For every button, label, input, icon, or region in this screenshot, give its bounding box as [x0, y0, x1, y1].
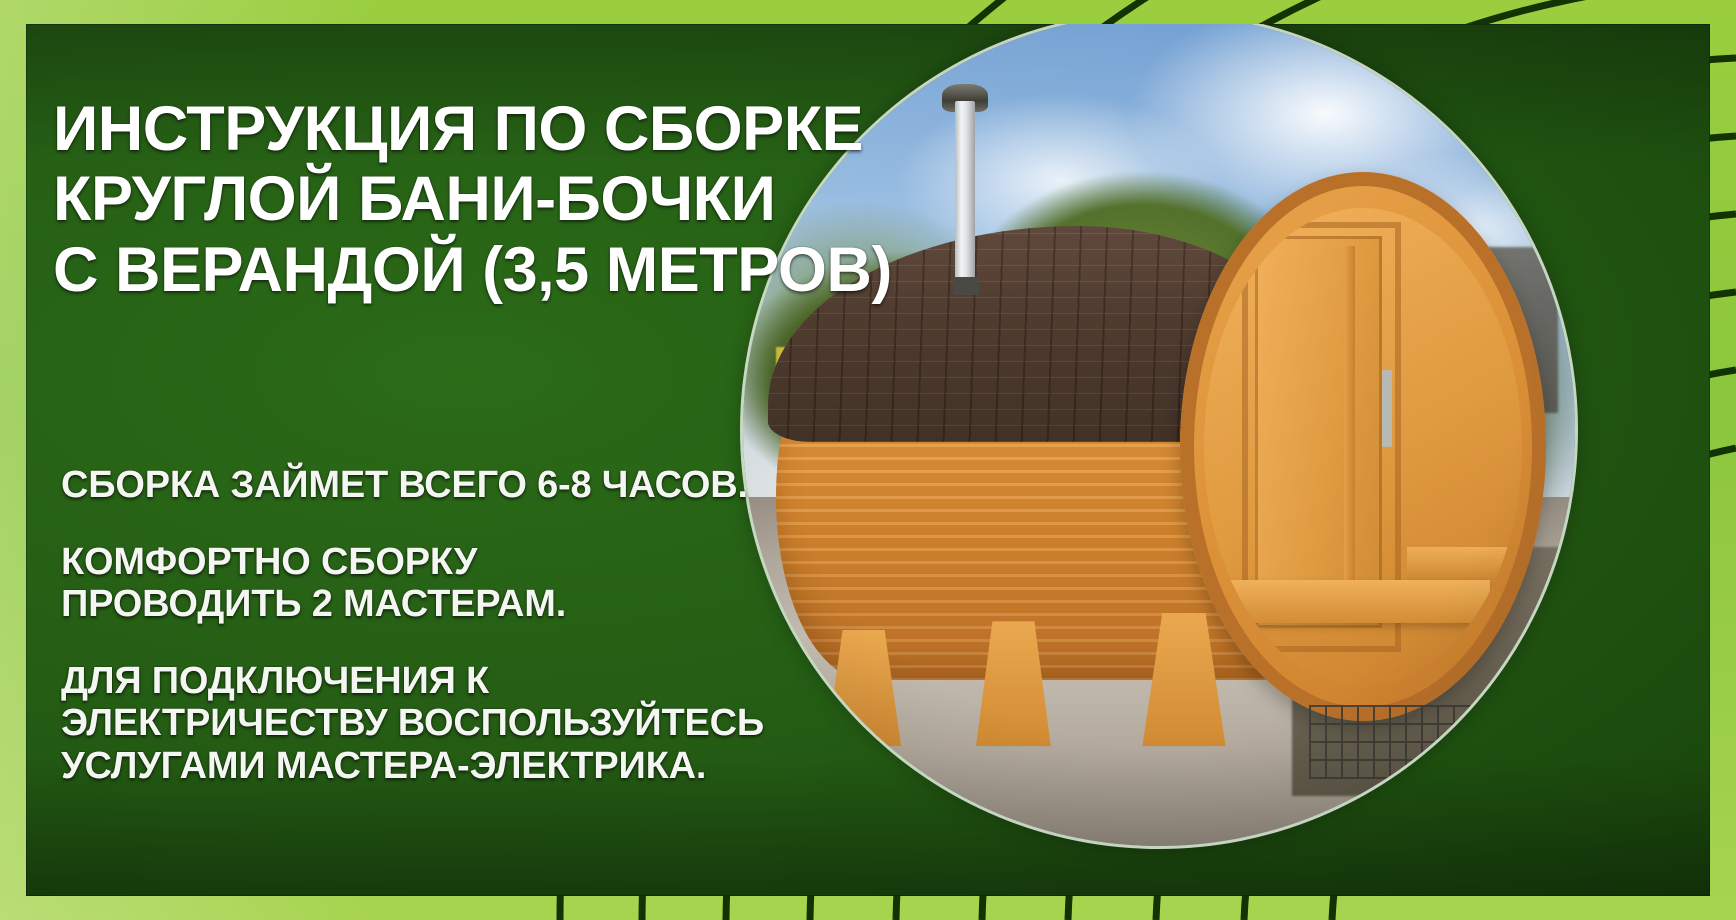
veranda-round-face	[1180, 172, 1546, 721]
vertical-post	[1344, 246, 1355, 609]
chimney-base	[953, 277, 980, 295]
headline-line: ИНСТРУКЦИЯ ПО СБОРКЕ	[53, 94, 843, 164]
metal-railing	[1309, 705, 1492, 780]
paragraph-line: ЭЛЕКТРИЧЕСТВУ ВОСПОЛЬЗУЙТЕСЬ	[61, 702, 821, 745]
banner-root: ИНСТРУКЦИЯ ПО СБОРКЕ КРУГЛОЙ БАНИ-БОЧКИ …	[0, 0, 1736, 920]
veranda-inner-face	[1204, 208, 1523, 686]
paragraph-line: СБОРКА ЗАЙМЕТ ВСЕГО 6-8 ЧАСОВ.	[61, 464, 821, 507]
paragraph-line: ПРОВОДИТЬ 2 МАСТЕРАМ.	[61, 583, 821, 626]
veranda-bench	[1223, 580, 1491, 623]
body-text-block: СБОРКА ЗАЙМЕТ ВСЕГО 6-8 ЧАСОВ. КОМФОРТНО…	[61, 464, 821, 787]
info-paragraph: ДЛЯ ПОДКЛЮЧЕНИЯ К ЭЛЕКТРИЧЕСТВУ ВОСПОЛЬЗ…	[61, 660, 821, 788]
content-panel: ИНСТРУКЦИЯ ПО СБОРКЕ КРУГЛОЙ БАНИ-БОЧКИ …	[26, 24, 1710, 896]
info-paragraph: КОМФОРТНО СБОРКУ ПРОВОДИТЬ 2 МАСТЕРАМ.	[61, 541, 821, 626]
paragraph-line: УСЛУГАМИ МАСТЕРА-ЭЛЕКТРИКА.	[61, 745, 821, 788]
page-title: ИНСТРУКЦИЯ ПО СБОРКЕ КРУГЛОЙ БАНИ-БОЧКИ …	[53, 94, 843, 305]
headline-line: С ВЕРАНДОЙ (3,5 МЕТРОВ)	[53, 235, 843, 305]
sauna-door	[1255, 236, 1382, 628]
product-photo	[743, 24, 1575, 846]
info-paragraph: СБОРКА ЗАЙМЕТ ВСЕГО 6-8 ЧАСОВ.	[61, 464, 821, 507]
product-photo-circle	[743, 24, 1575, 846]
paragraph-line: ДЛЯ ПОДКЛЮЧЕНИЯ К	[61, 660, 821, 703]
door-handle-icon	[1382, 370, 1392, 446]
veranda-side-bench	[1407, 547, 1515, 580]
paragraph-line: КОМФОРТНО СБОРКУ	[61, 541, 821, 584]
headline-line: КРУГЛОЙ БАНИ-БОЧКИ	[53, 164, 843, 234]
chimney-pipe	[955, 101, 975, 284]
